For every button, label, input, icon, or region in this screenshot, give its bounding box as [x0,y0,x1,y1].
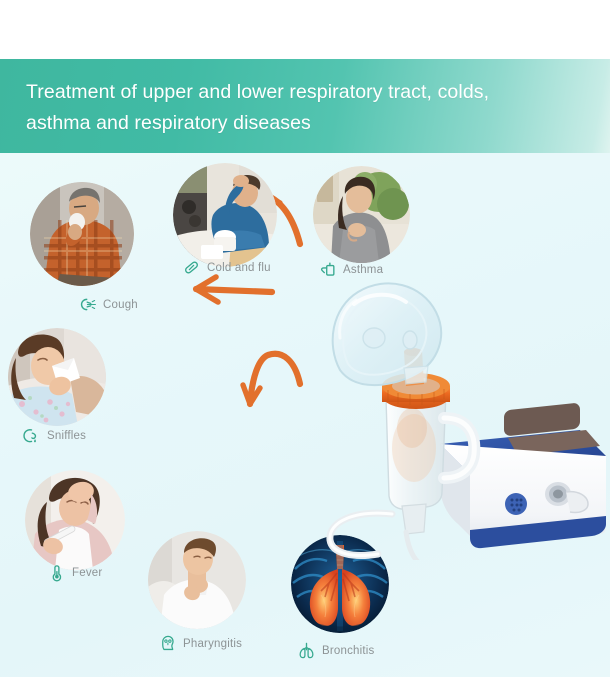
asthma-photo [313,166,410,263]
condition-photo-sniffles[interactable] [8,328,106,426]
condition-label-fever: Fever [47,563,102,582]
condition-label-sniffles: Sniffles [22,426,86,445]
condition-label-text: Cold and flu [207,262,271,274]
inhaler-icon [318,260,337,279]
runny-nose-icon [22,426,41,445]
condition-label-cold-and-flu: Cold and flu [182,258,271,277]
condition-label-text: Asthma [343,264,383,276]
nebulizer-illustration [318,278,606,560]
fever-photo [25,470,125,570]
promo-banner-page: Treatment of upper and lower respiratory… [0,0,610,699]
condition-label-pharyngitis: Pharyngitis [158,634,242,653]
condition-label-text: Fever [72,567,102,579]
condition-label-asthma: Asthma [318,260,383,279]
condition-label-text: Bronchitis [322,645,375,657]
condition-photo-fever[interactable] [25,470,125,570]
condition-label-text: Sniffles [47,430,86,442]
condition-label-text: Pharyngitis [183,638,242,650]
header-banner: Treatment of upper and lower respiratory… [0,59,610,153]
capsule-pill-icon [182,258,201,277]
thermometer-icon [47,563,66,582]
lungs-icon [297,641,316,660]
condition-photo-asthma[interactable] [313,166,410,263]
condition-photo-cold-and-flu[interactable] [173,163,277,267]
condition-label-text: Cough [103,299,138,311]
sniffles-photo [8,328,106,426]
banner-title: Treatment of upper and lower respiratory… [26,77,586,139]
condition-photo-pharyngitis[interactable] [148,531,246,629]
pharyngitis-photo [148,531,246,629]
throat-icon [158,634,177,653]
condition-label-cough: Cough [78,295,138,314]
cold-and-flu-photo [173,163,277,267]
condition-photo-cough[interactable] [30,182,134,286]
cough-icon [78,295,97,314]
condition-label-bronchitis: Bronchitis [297,641,375,660]
product-nebulizer[interactable] [318,278,606,560]
cough-photo [30,182,134,286]
